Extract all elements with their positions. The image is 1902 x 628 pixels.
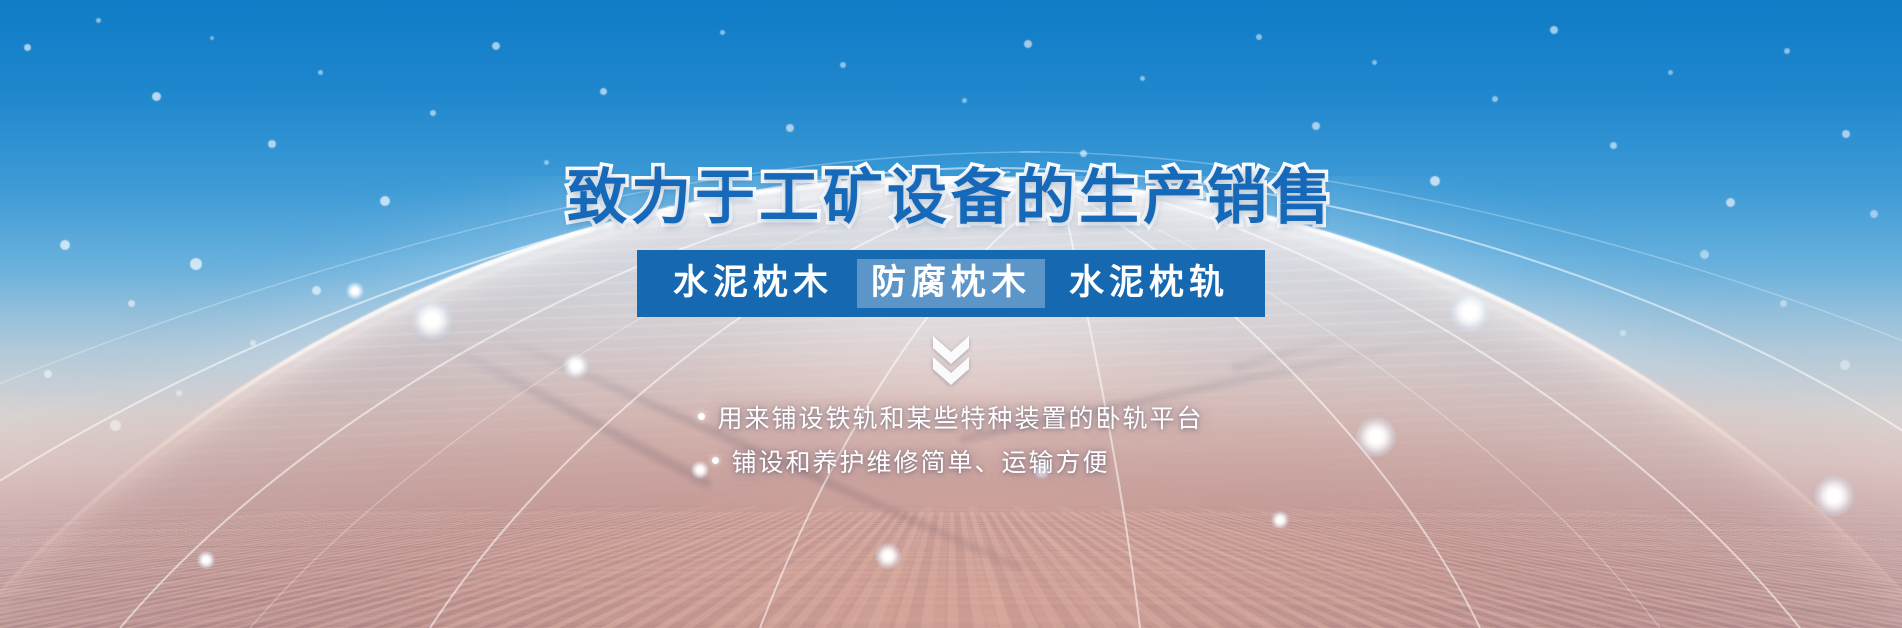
- bullet-dot-icon: [698, 413, 705, 420]
- banner-headline: 致力于工矿设备的生产销售: [0, 0, 1902, 228]
- bullet-dot-icon: [712, 457, 719, 464]
- chevron-double-down-icon: [0, 333, 1902, 385]
- list-item: 铺设和养护维修简单、运输方便: [712, 443, 1203, 479]
- bullet-text: 用来铺设铁轨和某些特种装置的卧轨平台: [717, 399, 1203, 435]
- product-tag-bar: 水泥枕木 防腐枕木 水泥枕轨: [637, 250, 1265, 317]
- product-tag-2[interactable]: 防腐枕木: [857, 259, 1045, 308]
- bullet-text: 铺设和养护维修简单、运输方便: [731, 443, 1109, 479]
- product-tag-1[interactable]: 水泥枕木: [659, 259, 847, 308]
- product-tag-3[interactable]: 水泥枕轨: [1055, 259, 1243, 308]
- list-item: 用来铺设铁轨和某些特种装置的卧轨平台: [698, 399, 1203, 435]
- feature-bullet-list: 用来铺设铁轨和某些特种装置的卧轨平台 铺设和养护维修简单、运输方便: [698, 399, 1203, 487]
- hero-banner: 致力于工矿设备的生产销售 水泥枕木 防腐枕木 水泥枕轨 用来铺设铁轨和某些特种装…: [0, 0, 1902, 628]
